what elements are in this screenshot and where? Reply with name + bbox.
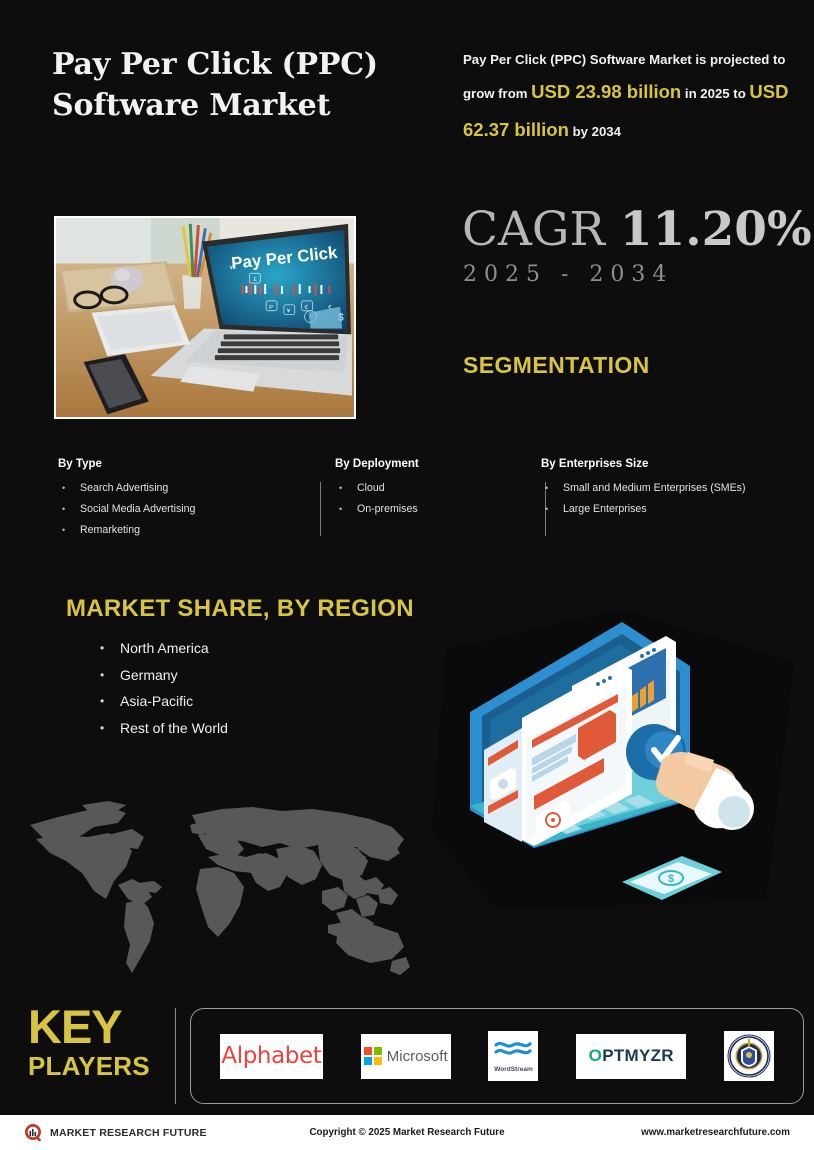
key-players-line-2: PLAYERS xyxy=(28,1049,168,1083)
region-item: North America xyxy=(100,635,228,662)
footer: MARKET RESEARCH FUTURE Copyright © 2025 … xyxy=(0,1115,814,1150)
market-projection-text: Pay Per Click (PPC) Software Market is p… xyxy=(463,46,793,149)
region-item: Germany xyxy=(100,662,228,689)
market-share-title: MARKET SHARE, BY REGION xyxy=(66,595,414,623)
optmyzr-text: PTMYZR xyxy=(602,1046,674,1065)
region-item: Rest of the World xyxy=(100,715,228,742)
cagr-period: 2025 - 2034 xyxy=(463,262,673,287)
segmentation-columns: By Type Search Advertising Social Media … xyxy=(58,458,788,548)
market-share-region-list: North America Germany Asia-Pacific Rest … xyxy=(100,635,228,741)
svg-text:P: P xyxy=(269,305,273,311)
intro-part-2: in 2025 to xyxy=(681,86,749,101)
key-players-divider xyxy=(175,1008,176,1104)
logo-wordstream: WordStream xyxy=(488,1031,538,1081)
footer-url[interactable]: www.marketresearchfuture.com xyxy=(641,1127,790,1138)
segmentation-item: Cloud xyxy=(335,478,485,499)
intro-part-3: by 2034 xyxy=(569,124,621,139)
ppc-isometric-illustration: $ xyxy=(426,600,814,940)
svg-text:$: $ xyxy=(668,873,674,885)
cagr-block: CAGR 11.20% xyxy=(462,206,812,253)
logo-alphabet: Alphabet xyxy=(220,1034,323,1079)
key-players-logo-box: Alphabet Microsoft WordStream OPTMYZR xyxy=(190,1008,804,1104)
segmentation-title: SEGMENTATION xyxy=(463,352,650,379)
wordstream-waves-icon xyxy=(494,1039,532,1064)
microsoft-squares-icon xyxy=(364,1047,382,1065)
logo-microsoft: Microsoft xyxy=(361,1034,451,1079)
microsoft-wordmark: Microsoft xyxy=(387,1048,448,1065)
region-item: Asia-Pacific xyxy=(100,688,228,715)
segmentation-item: Remarketing xyxy=(58,520,263,541)
segmentation-column-by-enterprises-size: By Enterprises Size Small and Medium Ent… xyxy=(541,458,791,520)
segmentation-item: Search Advertising xyxy=(58,478,263,499)
segmentation-item: Social Media Advertising xyxy=(58,499,263,520)
segmentation-column-by-type: By Type Search Advertising Social Media … xyxy=(58,458,263,541)
segmentation-item: Large Enterprises xyxy=(541,499,791,520)
world-map xyxy=(22,795,414,985)
market-value-2025: USD 23.98 billion xyxy=(531,81,681,102)
segmentation-heading: By Enterprises Size xyxy=(541,458,791,470)
cagr-label: CAGR xyxy=(462,202,605,257)
logo-optmyzr: OPTMYZR xyxy=(576,1034,686,1079)
segmentation-column-by-deployment: By Deployment Cloud On-premises xyxy=(335,458,485,520)
cagr-value: 11.20% xyxy=(620,202,812,257)
infographic-page: Pay Per Click (PPC) Software Market Pay … xyxy=(0,0,814,1150)
segmentation-item: On-premises xyxy=(335,499,485,520)
segmentation-heading: By Deployment xyxy=(335,458,485,470)
key-players-label: KEY PLAYERS xyxy=(28,1005,168,1083)
logo-massachusetts-seal xyxy=(724,1031,774,1081)
segmentation-divider-1 xyxy=(320,482,321,536)
page-title: Pay Per Click (PPC) Software Market xyxy=(52,44,382,126)
segmentation-item: Small and Medium Enterprises (SMEs) xyxy=(541,478,791,499)
optmyzr-o-icon: O xyxy=(589,1046,603,1065)
wordstream-wordmark: WordStream xyxy=(494,1066,533,1073)
key-players-line-1: KEY xyxy=(28,1005,168,1049)
segmentation-heading: By Type xyxy=(58,458,263,470)
alphabet-wordmark: Alphabet xyxy=(221,1043,321,1069)
hero-laptop-photo: Pay Per Click ¥£ P¥€ €$ xyxy=(54,216,356,419)
optmyzr-wordmark: OPTMYZR xyxy=(589,1046,674,1066)
